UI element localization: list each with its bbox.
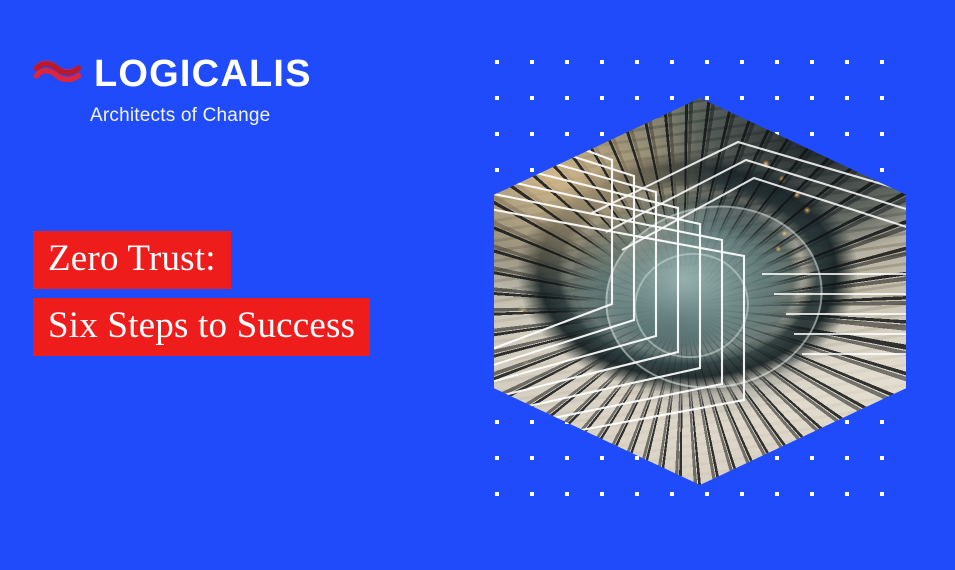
grid-dot — [705, 96, 709, 100]
grid-dot — [705, 492, 709, 496]
grid-dot — [495, 492, 499, 496]
grid-dot — [880, 132, 884, 136]
grid-dot — [600, 456, 604, 460]
grid-dot — [600, 132, 604, 136]
grid-dot — [530, 456, 534, 460]
grid-dot — [670, 60, 674, 64]
grid-dot — [880, 420, 884, 424]
grid-dot — [740, 96, 744, 100]
grid-dot — [670, 96, 674, 100]
grid-dot — [565, 60, 569, 64]
grid-dot — [810, 132, 814, 136]
grid-dot — [495, 456, 499, 460]
grid-dot — [880, 456, 884, 460]
grid-dot — [880, 492, 884, 496]
grid-dot — [530, 132, 534, 136]
banner-canvas: LOGICALIS Architects of Change Zero Trus… — [0, 0, 955, 570]
grid-dot — [530, 96, 534, 100]
grid-dot — [495, 420, 499, 424]
grid-dot — [810, 60, 814, 64]
logo-tagline: Architects of Change — [90, 106, 270, 125]
grid-dot — [530, 420, 534, 424]
grid-dot — [845, 492, 849, 496]
grid-dot — [740, 492, 744, 496]
logicalis-logo[interactable]: LOGICALIS Architects of Change — [32, 55, 312, 125]
grid-dot — [845, 456, 849, 460]
grid-dot — [565, 96, 569, 100]
grid-dot — [670, 492, 674, 496]
hexagon-photo-tile — [494, 98, 906, 485]
logo-wordmark: LOGICALIS — [94, 55, 312, 93]
grid-dot — [845, 420, 849, 424]
grid-dot — [495, 168, 499, 172]
spiral-staircase-photo — [494, 98, 906, 485]
grid-dot — [635, 60, 639, 64]
grid-dot — [530, 492, 534, 496]
grid-dot — [705, 60, 709, 64]
grid-dot — [810, 492, 814, 496]
grid-dot — [845, 96, 849, 100]
grid-dot — [565, 132, 569, 136]
grid-dot — [600, 60, 604, 64]
grid-dot — [880, 168, 884, 172]
headline-block: Zero Trust: Six Steps to Success — [33, 231, 370, 356]
grid-dot — [600, 492, 604, 496]
grid-dot — [775, 60, 779, 64]
grid-dot — [530, 60, 534, 64]
grid-dot — [530, 168, 534, 172]
logicalis-infinity-ribbon-icon — [32, 57, 84, 92]
grid-dot — [740, 60, 744, 64]
grid-dot — [880, 96, 884, 100]
grid-dot — [495, 96, 499, 100]
grid-dot — [845, 60, 849, 64]
grid-dot — [495, 132, 499, 136]
grid-dot — [635, 456, 639, 460]
grid-dot — [775, 492, 779, 496]
headline-line-2: Six Steps to Success — [33, 298, 370, 356]
grid-dot — [775, 96, 779, 100]
grid-dot — [810, 96, 814, 100]
grid-dot — [565, 456, 569, 460]
grid-dot — [565, 492, 569, 496]
headline-line-1: Zero Trust: — [33, 231, 231, 289]
grid-dot — [845, 132, 849, 136]
grid-dot — [880, 60, 884, 64]
grid-dot — [775, 456, 779, 460]
grid-dot — [635, 96, 639, 100]
grid-dot — [600, 96, 604, 100]
grid-dot — [495, 60, 499, 64]
grid-dot — [635, 492, 639, 496]
logo-row: LOGICALIS — [32, 55, 312, 93]
grid-dot — [810, 456, 814, 460]
